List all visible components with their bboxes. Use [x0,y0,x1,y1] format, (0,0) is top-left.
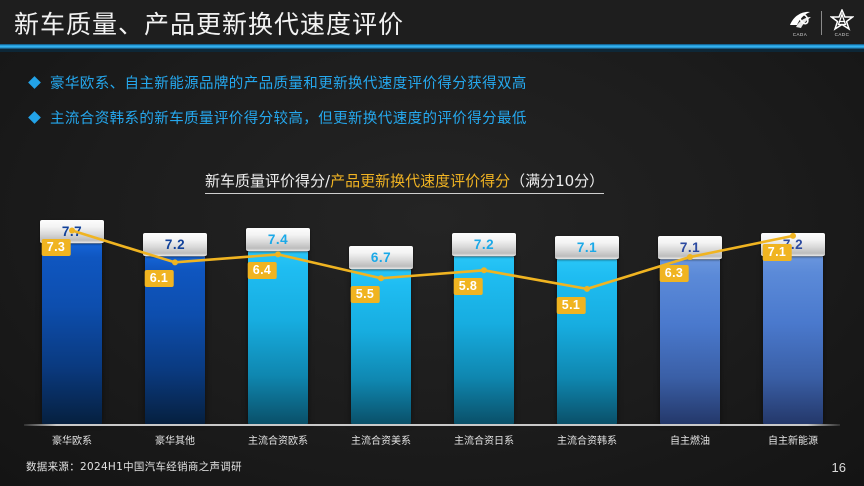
bar-value-label: 7.7 [62,224,82,239]
x-axis-labels: 豪华欧系豪华其他主流合资欧系主流合资美系主流合资日系主流合资韩系自主燃油自主新能… [0,432,864,450]
bullet-text: 豪华欧系、自主新能源品牌的产品质量和更新换代速度评价得分获得双高 [50,72,527,93]
x-axis-label: 豪华其他 [155,432,195,447]
bar-value-cap: 7.1 [658,236,722,259]
x-axis-label: 主流合资美系 [351,432,411,447]
x-axis-label: 自主燃油 [670,432,710,447]
bar-column: 7.2 [145,233,205,424]
bar-value-label: 7.2 [165,237,185,252]
cada-logo-caption: CADA [793,32,808,37]
x-axis-line [24,424,840,426]
bar-value-label: 7.2 [474,237,494,252]
diamond-bullet-icon [28,111,41,124]
bar-column: 7.1 [557,236,617,424]
bar-body [557,259,617,424]
cada-logo: CADA [787,9,813,37]
header-accent-shadow [0,49,864,52]
bar-column: 7.2 [763,233,823,424]
x-axis-label: 主流合资欧系 [248,432,308,447]
line-value-label: 5.5 [351,286,380,303]
page-title: 新车质量、产品更新换代速度评价 [14,5,404,41]
x-axis-label: 自主新能源 [768,432,818,447]
bar-value-label: 7.1 [680,240,700,255]
chart-title-part-3: （满分10分） [510,172,604,190]
bar-value-cap: 6.7 [349,246,413,269]
logo-divider [821,11,822,35]
x-axis-label: 主流合资韩系 [557,432,617,447]
bar-body [42,243,102,424]
bullet-text: 主流合资韩系的新车质量评价得分较高，但更新换代速度的评价得分最低 [50,107,527,128]
cada-bird-icon [787,9,813,31]
chart-title-part-1: 新车质量评价得分/ [205,172,330,190]
bar-body [763,256,823,424]
bar-value-cap: 7.4 [246,228,310,251]
chart-title-part-2: 产品更新换代速度评价得分 [330,172,510,190]
line-value-label: 5.8 [454,278,483,295]
bar-column: 7.2 [454,233,514,424]
bar-value-cap: 7.2 [452,233,516,256]
bar-value-cap: 7.2 [143,233,207,256]
logo-group: CADA CADC [787,6,854,40]
bar-body [660,259,720,424]
page-number: 16 [832,460,846,475]
x-axis-label: 主流合资日系 [454,432,514,447]
chart-plot-area: 7.77.27.46.77.27.17.17.2 [0,200,864,430]
line-value-label: 5.1 [557,297,586,314]
bar-value-cap: 7.1 [555,236,619,259]
line-value-label: 6.1 [145,270,174,287]
line-value-label: 6.3 [660,265,689,282]
slide-header: 新车质量、产品更新换代速度评价 CADA CADC [0,0,864,44]
cadc-star-icon [830,9,854,31]
bullet-list: 豪华欧系、自主新能源品牌的产品质量和更新换代速度评价得分获得双高 主流合资韩系的… [30,72,527,142]
bar-value-label: 6.7 [371,250,391,265]
cadc-logo: CADC [830,9,854,37]
line-value-label: 7.3 [42,239,71,256]
line-value-label: 7.1 [763,244,792,261]
source-note: 数据来源：2024H1中国汽车经销商之声调研 [26,459,242,474]
x-axis-label: 豪华欧系 [52,432,92,447]
bullet-item: 主流合资韩系的新车质量评价得分较高，但更新换代速度的评价得分最低 [30,107,527,128]
diamond-bullet-icon [28,76,41,89]
chart-title: 新车质量评价得分/产品更新换代速度评价得分（满分10分） [205,170,604,194]
bullet-item: 豪华欧系、自主新能源品牌的产品质量和更新换代速度评价得分获得双高 [30,72,527,93]
cadc-logo-caption: CADC [835,32,850,37]
bar-value-label: 7.1 [577,240,597,255]
line-value-label: 6.4 [248,262,277,279]
slide: 新车质量、产品更新换代速度评价 CADA CADC [0,0,864,486]
bar-column: 7.4 [248,228,308,424]
bar-value-label: 7.4 [268,232,288,247]
bar-column: 6.7 [351,246,411,424]
